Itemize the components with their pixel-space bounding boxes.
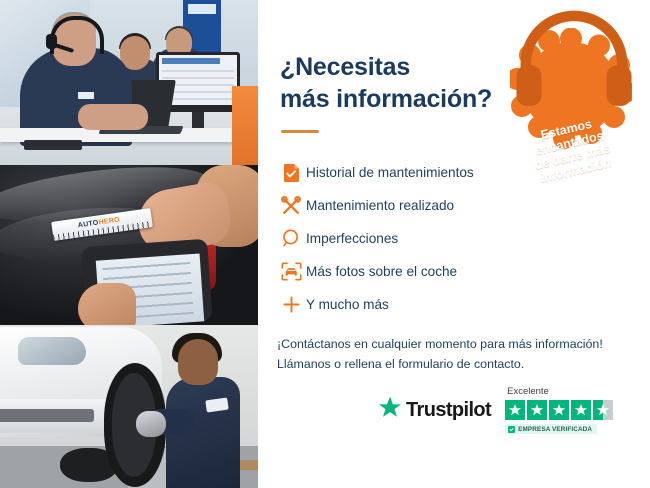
trustpilot-wordmark: Trustpilot [406, 399, 491, 422]
verified-company-badge: EMPRESA VERIFICADA [505, 424, 597, 434]
promo-card: AUTOHERO [0, 0, 650, 488]
photo-inspector-measuring-car-with-ruler-and-tablet: AUTOHERO [0, 165, 258, 325]
photo-column: AUTOHERO [0, 0, 258, 488]
tools-wrench-screwdriver-icon [276, 196, 306, 216]
star-filled-icon [571, 400, 591, 420]
maintenance-history-icon [276, 163, 306, 183]
trustpilot-star-icon [378, 396, 402, 424]
star-half-icon [593, 400, 613, 420]
contact-line-1: ¡Contáctanos en cualquier momento para m… [277, 337, 603, 351]
list-item: Imperfecciones [276, 222, 536, 255]
monitor-stand [192, 112, 204, 128]
trustpilot-rating[interactable]: Trustpilot Excelente [378, 386, 613, 434]
star-filled-icon [527, 400, 547, 420]
page-title-line-1: ¿Necesitas [280, 53, 410, 81]
contact-text: ¡Contáctanos en cualquier momento para m… [277, 334, 627, 374]
contact-line-2: Llámanos o rellena el formulario de cont… [277, 357, 524, 371]
trustpilot-logo[interactable]: Trustpilot [378, 396, 491, 424]
content-panel: ¿Necesitas más información? [258, 0, 650, 488]
desk-tablet [24, 140, 82, 150]
trustpilot-score: Excelente [505, 386, 613, 434]
page-title-line-2: más información? [280, 85, 492, 113]
support-badge-content: Estamos encantados de darte más informac… [510, 28, 632, 150]
car-headlight [18, 337, 86, 365]
list-item: Y mucho más [276, 288, 536, 321]
feature-label: Historial de mantenimientos [306, 165, 474, 180]
page-title: ¿Necesitas más información? [280, 52, 492, 115]
car-photo-scan-icon [276, 262, 306, 281]
photo-call-center-agents-with-headsets [0, 0, 258, 165]
car-grille [0, 409, 94, 422]
verified-company-label: EMPRESA VERIFICADA [518, 426, 592, 433]
agent-one-arm [78, 104, 148, 130]
agent-one-name-badge [78, 92, 94, 99]
mechanic-glove [136, 411, 166, 437]
title-divider [281, 130, 319, 133]
trustpilot-rating-label: Excelente [507, 386, 549, 397]
star-filled-icon [549, 400, 569, 420]
feature-list: Historial de mantenimientos Mantenimient… [276, 156, 536, 321]
list-item: Historial de mantenimientos [276, 156, 536, 189]
photo-mechanic-inspecting-wheel-on-lift [0, 325, 258, 488]
plus-icon [276, 295, 306, 314]
check-icon [508, 426, 515, 433]
mechanic-head [178, 339, 218, 385]
inspector-hand-holding-tablet [78, 283, 136, 325]
poster-highlight [188, 4, 216, 14]
list-item: Mantenimiento realizado [276, 189, 536, 222]
trustpilot-stars [505, 400, 613, 420]
feature-label: Y mucho más [306, 297, 389, 312]
monitor-screen-header [162, 58, 220, 64]
list-item: Más fotos sobre el coche [276, 255, 536, 288]
feature-label: Imperfecciones [306, 231, 398, 246]
orange-equipment [232, 86, 258, 165]
support-badge: Estamos encantados de darte más informac… [510, 28, 632, 150]
headset-icon [513, 0, 635, 121]
feature-label: Más fotos sobre el coche [306, 264, 457, 279]
magnifier-imperfections-icon [276, 229, 306, 248]
star-filled-icon [505, 400, 525, 420]
feature-label: Mantenimiento realizado [306, 198, 454, 213]
